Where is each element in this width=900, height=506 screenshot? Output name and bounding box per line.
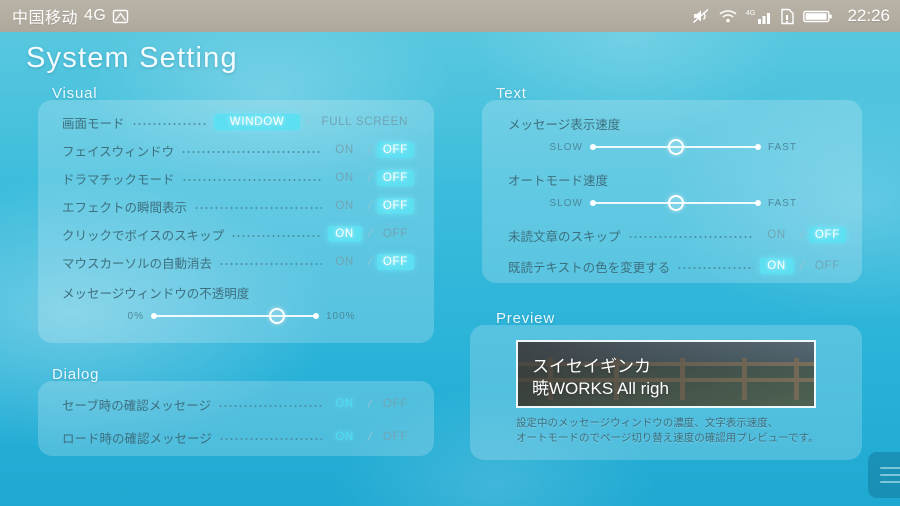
section-label-dialog: Dialog: [52, 366, 99, 383]
sim-card-icon: [780, 8, 795, 25]
menu-lines-icon: [880, 474, 900, 476]
settings-screen: 中国移动 4G: [0, 0, 900, 506]
battery-icon: [803, 9, 833, 24]
panel-text: [482, 100, 862, 283]
svg-text:4G: 4G: [746, 10, 755, 17]
panel-preview: [470, 325, 862, 460]
status-bar: 中国移动 4G: [0, 0, 900, 32]
status-tray: 4G 22:26: [692, 6, 890, 26]
carrier-name: 中国移动: [12, 4, 78, 28]
page-title: System Setting: [26, 42, 238, 75]
menu-lines-icon: [880, 467, 900, 469]
wifi-icon: [718, 8, 738, 24]
signal-bars-icon: 4G: [746, 8, 772, 25]
panel-visual: [38, 100, 434, 343]
section-label-visual: Visual: [52, 85, 97, 102]
mute-icon: [692, 8, 710, 24]
section-label-preview: Preview: [496, 310, 555, 327]
network-type-label: 4G: [84, 7, 106, 25]
menu-lines-icon: [880, 481, 900, 483]
menu-button[interactable]: [868, 452, 900, 498]
carrier-info: 中国移动 4G: [12, 4, 129, 28]
section-label-text: Text: [496, 85, 527, 102]
panel-dialog: [38, 381, 434, 456]
screenshot-icon: [112, 8, 129, 25]
clock: 22:26: [847, 6, 890, 26]
